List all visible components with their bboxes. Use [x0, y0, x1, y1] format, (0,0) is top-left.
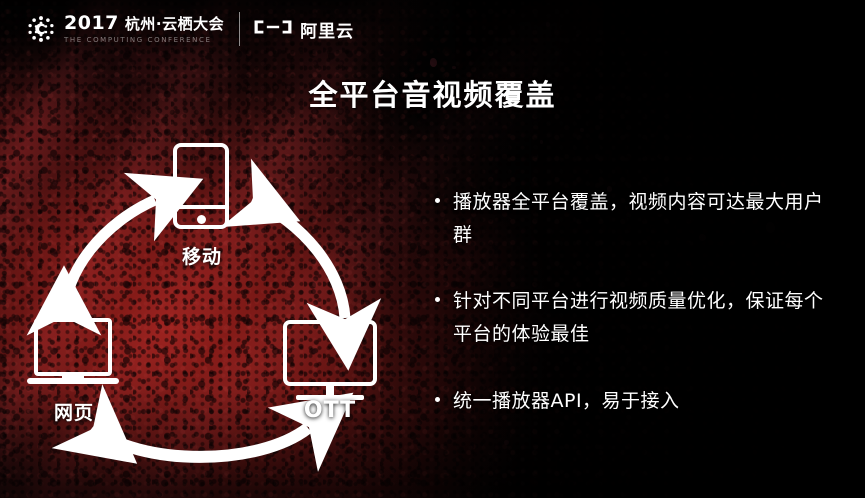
diagram-node-web: [27, 318, 119, 384]
diagram-label-web: 网页: [0, 398, 154, 425]
smartphone-divider: [177, 205, 225, 209]
logo-divider: [239, 12, 240, 46]
conference-title-block: 2017 杭州·云栖大会 THE COMPUTING CONFERENCE: [64, 14, 224, 44]
header-logo-bar: 2017 杭州·云栖大会 THE COMPUTING CONFERENCE 阿里…: [26, 10, 354, 48]
diagram-node-ott: [283, 320, 377, 400]
platform-coverage-diagram: 移动 网页 OTT: [0, 110, 430, 498]
list-item: 统一播放器API，易于接入: [432, 385, 852, 418]
computing-conference-mark-icon: [26, 14, 56, 44]
bullet-list: 播放器全平台覆盖，视频内容可达最大用户群 针对不同平台进行视频质量优化，保证每个…: [432, 186, 852, 451]
conference-year: 2017: [64, 14, 119, 33]
arrow-web-ott: [92, 428, 308, 457]
conference-name-cn: 杭州·云栖大会: [125, 17, 224, 32]
diagram-label-mobile: 移动: [122, 242, 282, 269]
diagram-label-ott: OTT: [250, 398, 410, 423]
alibaba-cloud-logo: 阿里云: [253, 17, 354, 42]
alibaba-cloud-name: 阿里云: [300, 17, 354, 42]
laptop-notch: [62, 374, 84, 378]
laptop-icon: [34, 318, 112, 376]
bullet-dot-icon: [435, 397, 440, 402]
television-icon: [283, 320, 377, 386]
bullet-dot-icon: [435, 198, 440, 203]
alibaba-cloud-mark-icon: [253, 17, 293, 41]
conference-name-en: THE COMPUTING CONFERENCE: [64, 36, 224, 44]
smartphone-icon: [173, 143, 229, 229]
list-item: 播放器全平台覆盖，视频内容可达最大用户群: [432, 186, 852, 251]
bullet-text: 播放器全平台覆盖，视频内容可达最大用户群: [453, 186, 825, 251]
diagram-node-mobile: [173, 143, 229, 229]
list-item: 针对不同平台进行视频质量优化，保证每个平台的体验最佳: [432, 285, 852, 350]
page-title: 全平台音视频覆盖: [0, 72, 865, 114]
television-stand: [326, 386, 334, 395]
bullet-dot-icon: [435, 297, 440, 302]
laptop-base: [27, 378, 119, 384]
smartphone-home-button: [197, 215, 206, 224]
bullet-text: 针对不同平台进行视频质量优化，保证每个平台的体验最佳: [453, 285, 825, 350]
bullet-text: 统一播放器API，易于接入: [453, 385, 680, 418]
presentation-slide: 2017 杭州·云栖大会 THE COMPUTING CONFERENCE 阿里…: [0, 0, 865, 498]
